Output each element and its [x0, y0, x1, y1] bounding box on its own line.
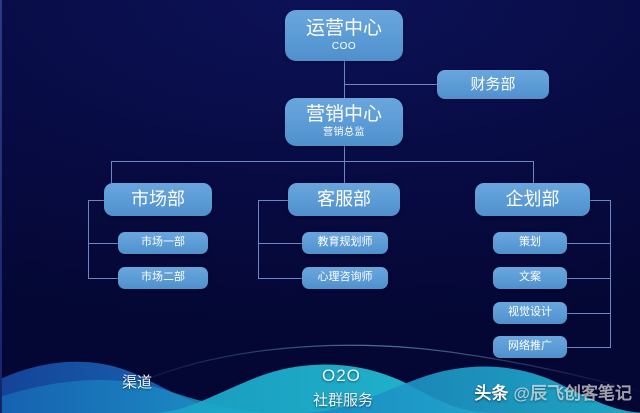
node-planning-dept-child-1-title: 策划	[519, 237, 541, 249]
footer-label-o2o-sub: 社群服务	[313, 389, 373, 410]
node-service-dept-child-1-title: 教育规划师	[318, 237, 373, 249]
node-planning-dept-child-2-title: 文案	[519, 272, 541, 284]
connector-root-to-marketing	[344, 61, 345, 98]
connector-stub-planning	[533, 161, 534, 183]
watermark-brand: 头条	[474, 379, 508, 404]
footer-label-o2o: O2O	[322, 366, 361, 386]
node-marketing-center[interactable]: 营销中心 营销总监	[285, 98, 403, 146]
node-planning-dept-child-4[interactable]: 网络推广	[493, 336, 567, 358]
node-service-dept-child-2[interactable]: 心理咨询师	[302, 267, 388, 289]
connector-market-top	[88, 200, 104, 201]
connector-market-child-2	[88, 278, 118, 279]
node-market-dept-child-2-title: 市场二部	[141, 272, 185, 284]
node-planning-dept-child-2[interactable]: 文案	[493, 267, 567, 289]
node-service-dept-child-1[interactable]: 教育规划师	[302, 232, 388, 254]
node-market-dept-child-1[interactable]: 市场一部	[118, 232, 208, 254]
connector-service-child-1	[258, 243, 302, 244]
node-planning-dept[interactable]: 企划部	[475, 183, 590, 216]
connector-planning-top	[590, 200, 611, 201]
node-operations-center-subtitle: COO	[332, 42, 356, 53]
watermark-handle: @辰飞创客笔记	[513, 379, 632, 404]
connector-stub-service	[344, 161, 345, 183]
node-market-dept-child-1-title: 市场一部	[141, 237, 185, 249]
footer-label-channel: 渠道	[122, 371, 152, 392]
watermark: 头条 @辰飞创客笔记	[474, 379, 632, 404]
node-marketing-center-subtitle: 营销总监	[323, 128, 365, 139]
connector-distributor-bar	[111, 161, 533, 162]
connector-planning-child-3	[567, 313, 611, 314]
connector-market-child-1	[88, 243, 118, 244]
connector-service-trunk	[258, 200, 259, 278]
connector-service-top	[258, 200, 288, 201]
node-planning-dept-title: 企划部	[506, 190, 560, 209]
connector-service-child-2	[258, 278, 302, 279]
node-planning-dept-child-3[interactable]: 视觉设计	[493, 302, 567, 324]
node-finance-dept[interactable]: 财务部	[437, 70, 549, 99]
node-service-dept-child-2-title: 心理咨询师	[318, 272, 373, 284]
node-market-dept[interactable]: 市场部	[104, 183, 212, 216]
org-chart-slide: 运营中心 COO 财务部 营销中心 营销总监 市场部 市场一部 市场二部 客服部…	[0, 0, 640, 413]
node-operations-center[interactable]: 运营中心 COO	[285, 10, 403, 61]
node-planning-dept-child-4-title: 网络推广	[508, 341, 552, 353]
connector-planning-child-1	[567, 243, 611, 244]
node-planning-dept-child-1[interactable]: 策划	[493, 232, 567, 254]
node-market-dept-child-2[interactable]: 市场二部	[118, 267, 208, 289]
node-service-dept-title: 客服部	[317, 190, 371, 209]
node-finance-dept-title: 财务部	[470, 77, 515, 93]
node-service-dept[interactable]: 客服部	[288, 183, 400, 216]
node-market-dept-title: 市场部	[131, 190, 185, 209]
node-marketing-center-title: 营销中心	[306, 105, 382, 125]
node-planning-dept-child-3-title: 视觉设计	[508, 307, 552, 319]
connector-trunk-to-finance	[344, 84, 437, 85]
connector-stub-market	[111, 161, 112, 183]
connector-planning-child-2	[567, 278, 611, 279]
connector-market-trunk	[88, 200, 89, 278]
node-operations-center-title: 运营中心	[306, 19, 382, 39]
